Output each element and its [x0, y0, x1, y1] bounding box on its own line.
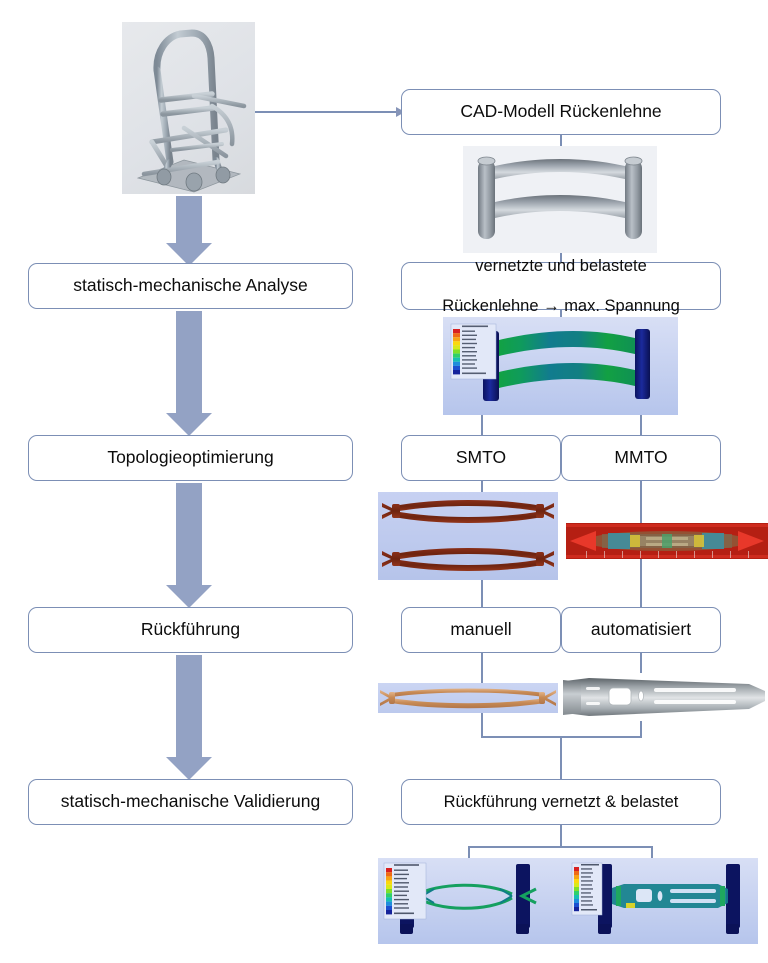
connector-smto-image-to-manual	[481, 580, 483, 608]
box-cad-model[interactable]: CAD-Modell Rückenlehne	[401, 89, 721, 135]
mmto-topology-drawing	[566, 523, 768, 559]
box-smto[interactable]: SMTO	[401, 435, 561, 481]
connector-merge-to-validation-box	[560, 736, 562, 779]
smto-topology-drawing	[378, 492, 558, 580]
step-static-validation-label: statisch-mechanische Validierung	[55, 791, 326, 812]
connector-validation-bracket	[468, 846, 653, 848]
img-manual-reconstruction	[378, 683, 558, 713]
connector-chair-to-cad-model	[255, 111, 401, 113]
flowchart-canvas: statisch-mechanische Analyse Topologieop…	[0, 0, 768, 963]
step-static-analysis[interactable]: statisch-mechanische Analyse	[28, 263, 353, 309]
box-mmto[interactable]: MMTO	[561, 435, 721, 481]
automated-reconstruction-drawing	[559, 673, 768, 721]
connector-mmto-to-mmto-image	[640, 481, 642, 524]
connector-fea-to-smto	[481, 415, 483, 436]
img-chair-cad	[122, 22, 255, 194]
connector-fea-to-mmto	[640, 415, 642, 436]
connector-mmto-image-to-automated	[640, 559, 642, 608]
img-mmto-result	[566, 523, 768, 559]
block-arrow-to-static-validation	[165, 655, 213, 780]
chair-cad-drawing	[122, 22, 255, 194]
step-static-analysis-label: statisch-mechanische Analyse	[67, 275, 313, 296]
img-automated-reconstruction	[559, 673, 768, 721]
img-smto-result	[378, 492, 558, 580]
box-cad-model-label: CAD-Modell Rückenlehne	[454, 101, 667, 122]
block-arrow-to-static-analysis	[165, 196, 213, 266]
img-validation-mmto	[568, 858, 758, 944]
step-topology-optimization[interactable]: Topologieoptimierung	[28, 435, 353, 481]
box-mmto-label: MMTO	[608, 447, 673, 468]
step-static-validation[interactable]: statisch-mechanische Validierung	[28, 779, 353, 825]
connector-manual-to-manual-image	[481, 653, 483, 684]
img-backrest-cad	[463, 146, 657, 253]
box-meshed-loaded[interactable]: vernetzte und belastete Rückenlehne → ma…	[401, 262, 721, 310]
connector-manual-image-down	[481, 713, 483, 737]
box-meshed-loaded-line2: Rückenlehne → max. Spannung	[436, 296, 686, 316]
step-reconstruction[interactable]: Rückführung	[28, 607, 353, 653]
box-manual-label: manuell	[444, 619, 517, 640]
box-reconstruction-validated[interactable]: Rückführung vernetzt & belastet	[401, 779, 721, 825]
step-topology-optimization-label: Topologieoptimierung	[101, 447, 279, 468]
img-validation-smto	[378, 858, 568, 944]
box-meshed-loaded-line1: vernetzte und belastete	[436, 256, 686, 276]
connector-automated-to-automated-image	[640, 653, 642, 674]
validation-smto-contour	[378, 858, 568, 944]
box-automated-label: automatisiert	[585, 619, 697, 640]
fea-stress-contour	[443, 317, 678, 415]
validation-smto-legend	[384, 863, 426, 919]
fea-legend	[451, 324, 496, 379]
block-arrow-to-topology-optimization	[165, 311, 213, 436]
backrest-cad-drawing	[463, 146, 657, 253]
step-reconstruction-label: Rückführung	[135, 619, 246, 640]
img-fea-stress	[443, 317, 678, 415]
connector-automated-image-down	[640, 721, 642, 737]
connector-validation-box-down	[560, 825, 562, 847]
box-automated[interactable]: automatisiert	[561, 607, 721, 653]
manual-reconstruction-drawing	[378, 683, 558, 713]
box-meshed-loaded-label: vernetzte und belastete Rückenlehne → ma…	[430, 256, 692, 316]
validation-mmto-contour	[568, 858, 758, 944]
block-arrow-to-reconstruction	[165, 483, 213, 608]
box-manual[interactable]: manuell	[401, 607, 561, 653]
box-reconstruction-validated-label: Rückführung vernetzt & belastet	[438, 792, 685, 812]
validation-mmto-legend	[572, 863, 602, 915]
box-smto-label: SMTO	[450, 447, 512, 468]
